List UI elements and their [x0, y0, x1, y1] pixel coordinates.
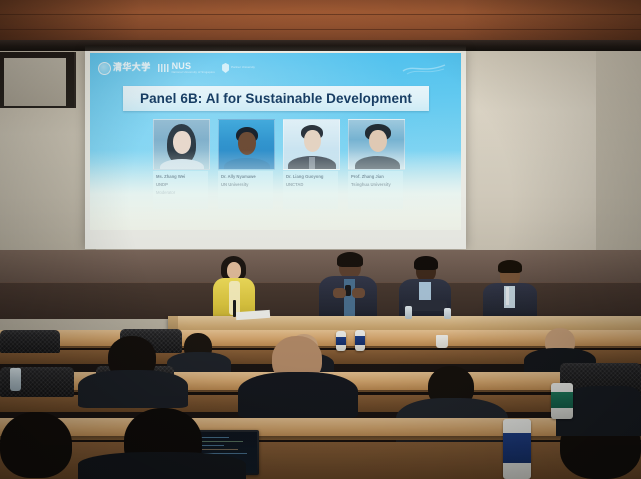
screen-top-bar [85, 46, 466, 51]
panelist-info: Prof. Zhang Jian Tsinghua University [348, 171, 403, 209]
tsinghua-university-logo: 清华大学 [98, 62, 151, 75]
chair-mesh [0, 330, 60, 353]
shield-icon [222, 63, 229, 73]
panelist-card-row: Ms. Zhang Wei UNDP Moderator Dr. Ally Ny… [153, 119, 400, 209]
slide-logo-row: 清华大学 NUS National University of Singapor… [98, 61, 255, 75]
microphone-stand [233, 300, 236, 317]
sanitizing-wipes-canister [355, 330, 365, 351]
nus-logo-subtitle: National University of Singapore [172, 71, 215, 74]
lanyard [506, 287, 509, 305]
tsinghua-seal-icon [98, 62, 111, 75]
portrait-zhang-wei [153, 119, 210, 170]
door-panel [4, 58, 66, 106]
nus-logo-text: NUS [172, 62, 215, 71]
panelist-info: Dr. Ally Nyamawe UN University [218, 171, 273, 209]
sanitizing-wipes-canister [336, 331, 346, 351]
nus-mark-icon [158, 64, 170, 72]
panelist-org: UNCTAD [286, 182, 335, 187]
paper-cup [436, 335, 448, 348]
panelist-org: Tsinghua University [351, 182, 400, 187]
panelist-org: UN University [221, 182, 270, 187]
panelist-name: Ms. Zhang Wei [156, 174, 205, 179]
slide-title: Panel 6B: AI for Sustainable Development [140, 91, 412, 106]
panelist-info: Dr. Liang Guoyong UNCTAD [283, 171, 338, 209]
panelist-role: Moderator [156, 190, 205, 195]
lecture-hall-photo: 清华大学 NUS National University of Singapor… [0, 0, 641, 479]
partner-university-logo: Partner University [222, 63, 255, 73]
portrait-zhang-jian [348, 119, 405, 170]
sanitizing-wipes-canister [503, 419, 531, 479]
portrait-liang-guoyong [283, 119, 340, 170]
right-wall [596, 48, 641, 278]
water-bottle [444, 308, 451, 319]
panelist-name: Prof. Zhang Jian [351, 174, 400, 179]
tsinghua-logo-text: 清华大学 [113, 64, 151, 73]
nus-logo: NUS National University of Singapore [158, 62, 215, 74]
water-bottle [405, 306, 412, 319]
slide-title-banner: Panel 6B: AI for Sustainable Development [123, 86, 429, 111]
panelist-name: Dr. Liang Guoyong [286, 174, 335, 179]
panelist-org: UNDP [156, 182, 205, 187]
wood-wall-panelling [0, 0, 641, 42]
panelist-card: Ms. Zhang Wei UNDP Moderator [153, 119, 208, 209]
presentation-slide: 清华大学 NUS National University of Singapor… [90, 53, 461, 230]
sanitizing-wipes-canister [551, 383, 573, 419]
panelist-card: Dr. Liang Guoyong UNCTAD [283, 119, 338, 209]
swoosh-decoration-icon [401, 62, 447, 76]
panelist-card: Dr. Ally Nyamawe UN University [218, 119, 273, 209]
panelist-card: Prof. Zhang Jian Tsinghua University [348, 119, 403, 209]
water-bottle [10, 368, 21, 391]
portrait-ally-nyamawe [218, 119, 275, 170]
panelist-name: Dr. Ally Nyamawe [221, 174, 270, 179]
partner-logo-subtitle: Partner University [231, 66, 255, 69]
panelist-info: Ms. Zhang Wei UNDP Moderator [153, 171, 208, 209]
